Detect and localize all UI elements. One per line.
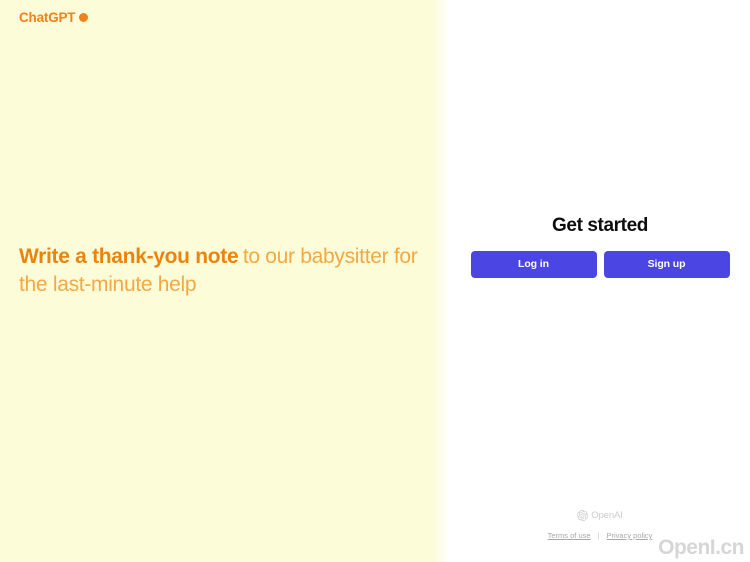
prompt-emphasis-text: Write a thank-you note	[19, 245, 238, 268]
openai-logo-icon	[577, 510, 588, 521]
privacy-policy-link[interactable]: Privacy policy	[607, 531, 653, 540]
example-prompt: Write a thank-you note to our babysitter…	[19, 243, 419, 299]
terms-of-use-link[interactable]: Terms of use	[548, 531, 591, 540]
chatgpt-landing-page: ChatGPT Write a thank-you note to our ba…	[0, 0, 750, 562]
login-button[interactable]: Log in	[471, 251, 597, 278]
orange-dot-icon	[79, 13, 88, 22]
chatgpt-brand-logo: ChatGPT	[19, 11, 88, 25]
auth-button-group: Log in Sign up	[471, 251, 730, 278]
openai-wordmark: OpenAI	[591, 510, 623, 521]
openai-branding: OpenAI	[577, 510, 623, 521]
footer-separator: |	[598, 531, 600, 540]
footer: OpenAI Terms of use | Privacy policy	[450, 510, 750, 540]
signup-button[interactable]: Sign up	[604, 251, 730, 278]
right-auth-panel: Get started Log in Sign up OpenAI Terms …	[450, 0, 750, 562]
footer-links: Terms of use | Privacy policy	[548, 531, 653, 540]
page-title: Get started	[552, 216, 648, 237]
left-promo-panel: ChatGPT Write a thank-you note to our ba…	[0, 0, 450, 562]
get-started-block: Get started Log in Sign up	[450, 216, 750, 278]
chatgpt-wordmark: ChatGPT	[19, 11, 75, 25]
